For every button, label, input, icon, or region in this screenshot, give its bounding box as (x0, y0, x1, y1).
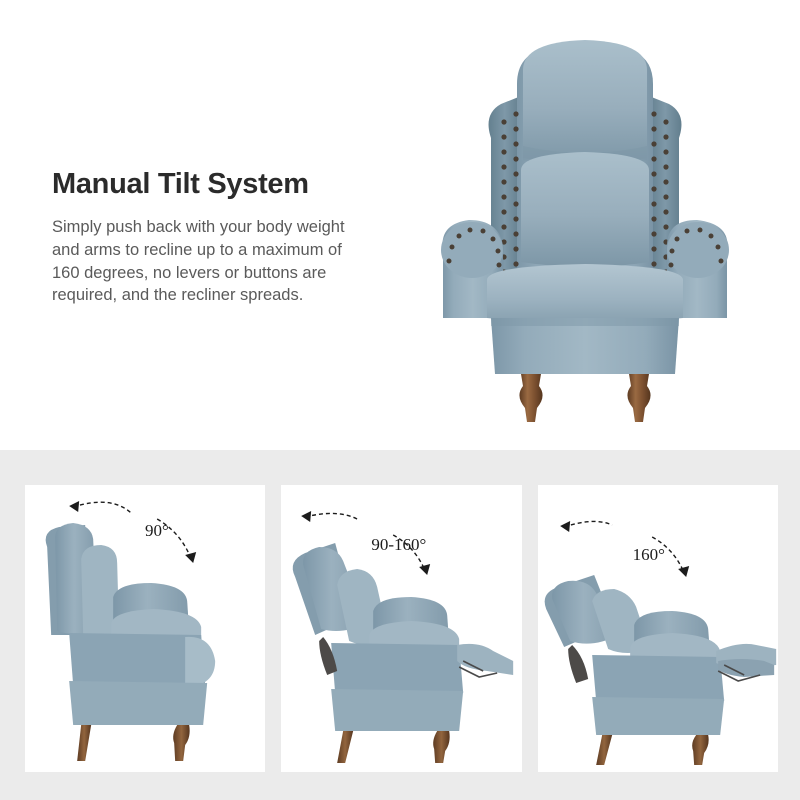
leg-rear (77, 725, 91, 761)
panel-partial-recline-position[interactable]: 90-160° (281, 485, 521, 772)
leg-front (692, 735, 709, 765)
hero-chair-image (425, 18, 745, 428)
text-block: Manual Tilt System Simply push back with… (52, 168, 392, 307)
leg-rear (596, 735, 612, 765)
page-title: Manual Tilt System (52, 168, 392, 201)
angle-arrow-icon (564, 521, 684, 573)
panel-upright-position[interactable]: 90° (25, 485, 265, 772)
leg-left (519, 374, 542, 422)
angle-label: 90° (145, 521, 169, 541)
panels-row: 90° (25, 485, 778, 772)
angle-label: 90-160° (371, 535, 426, 555)
panel-full-recline-position[interactable]: 160° (538, 485, 778, 772)
hero-section: Manual Tilt System Simply push back with… (0, 0, 800, 450)
leg-front (173, 725, 190, 761)
leg-rear (337, 731, 353, 763)
leg-front (433, 731, 450, 763)
leg-right (627, 374, 650, 422)
page-description: Simply push back with your body weight a… (52, 216, 392, 306)
recline-positions-section: 90° (0, 450, 800, 800)
angle-label: 160° (633, 545, 665, 565)
